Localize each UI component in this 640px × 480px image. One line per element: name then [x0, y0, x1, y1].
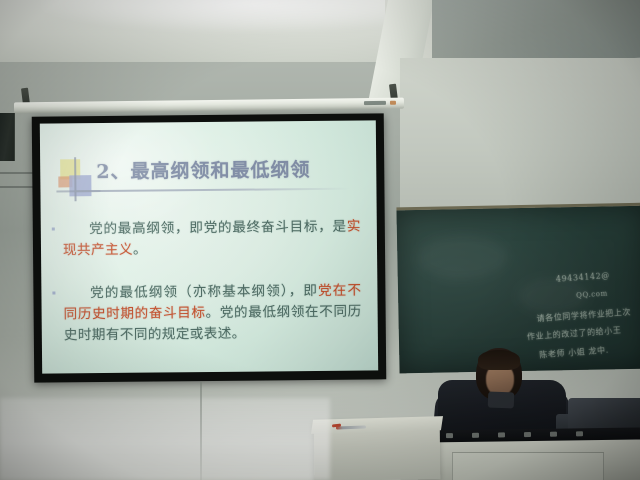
projection-screen: 2、最高纲领和最低纲领 党的最高纲领，即党的最终奋斗目标，是实现共产主义。 党的…: [32, 113, 387, 382]
control-button[interactable]: [550, 432, 557, 437]
slide-paragraph-1: 党的最高纲领，即党的最终奋斗目标，是实现共产主义。: [63, 217, 361, 262]
wall-seam: [200, 382, 202, 480]
bullet-marker-2: [52, 291, 55, 294]
right-wall: [400, 58, 640, 208]
wall-speaker: [0, 113, 15, 161]
presentation-slide: 2、最高纲领和最低纲领 党的最高纲领，即党的最终奋斗目标，是实现共产主义。 党的…: [40, 120, 378, 373]
person-collar: [488, 392, 515, 409]
control-button[interactable]: [472, 433, 479, 438]
wall-light-spill: [0, 398, 330, 480]
person-hair: [478, 350, 520, 370]
teacher-desk: [418, 440, 640, 480]
desk-panel: [452, 452, 604, 480]
roller-label: [364, 101, 386, 105]
text-plain: 。: [133, 242, 147, 258]
chalk-text-line-4: 作业上的改过了的给小王: [527, 325, 622, 343]
control-button[interactable]: [446, 433, 453, 438]
control-button[interactable]: [498, 432, 505, 437]
wall-trim-upper: [0, 172, 36, 174]
chalk-text-line-1: 49434142@: [556, 271, 611, 284]
motif-blue-square: [69, 175, 91, 196]
roller-indicator-icon: [390, 101, 396, 105]
slide-title-rule: [74, 188, 350, 193]
slide-title: 2、最高纲领和最低纲领: [96, 155, 310, 184]
motif-vertical-bar: [74, 157, 76, 201]
control-button[interactable]: [524, 432, 531, 437]
control-button[interactable]: [576, 431, 583, 436]
chalk-text-line-3: 请各位同学将作业把上次: [536, 306, 631, 324]
text-plain: 党的最低纲领（亦称基本纲领），即: [89, 283, 318, 301]
classroom-photo: 2、最高纲领和最低纲领 党的最高纲领，即党的最终奋斗目标，是实现共产主义。 党的…: [0, 0, 640, 480]
slide-paragraph-2: 党的最低纲领（亦称基本纲领），即党在不同历史时期的奋斗目标。党的最低纲领在不同历…: [63, 281, 362, 347]
bullet-marker-1: [52, 227, 55, 230]
chalk-smudge: [417, 234, 508, 280]
text-plain: 党的最高纲领，即党的最终奋斗目标，是: [89, 219, 347, 237]
chalk-text-line-2: QQ.com: [576, 290, 608, 300]
chalk-smudge: [518, 277, 589, 314]
wall-trim-lower: [0, 186, 33, 188]
